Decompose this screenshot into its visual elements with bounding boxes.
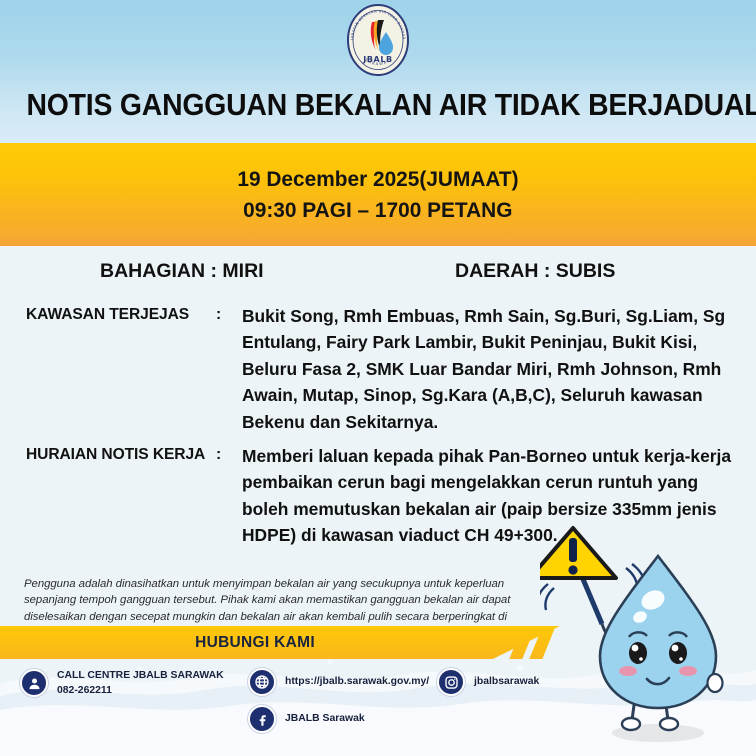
- daerah-label: DAERAH : SUBIS: [455, 260, 615, 283]
- detail-colon: :: [216, 443, 242, 467]
- detail-label: HURAIAN NOTIS KERJA: [26, 443, 216, 467]
- notice-time: 09:30 PAGI – 1700 PETANG: [243, 198, 512, 223]
- bahagian-label: BAHAGIAN : MIRI: [100, 260, 264, 283]
- date-band: 19 December 2025(JUMAAT) 09:30 PAGI – 17…: [0, 143, 756, 246]
- detail-colon: :: [216, 303, 242, 327]
- notice-date: 19 December 2025(JUMAAT): [237, 167, 518, 192]
- poster-body: BAHAGIAN : MIRI DAERAH : SUBIS KAWASAN T…: [0, 246, 756, 756]
- contact-list: CALL CENTRE JBALB SARAWAK 082-262211 htt…: [0, 659, 756, 756]
- contact-facebook[interactable]: JBALB Sarawak: [248, 705, 365, 733]
- facebook-icon: [248, 705, 276, 733]
- contact-line-1: CALL CENTRE JBALB SARAWAK: [57, 670, 224, 681]
- page-title: NOTIS GANGGUAN BEKALAN AIR TIDAK BERJADU…: [26, 88, 729, 123]
- jbalb-logo-svg: JBALB JABATAN BEKALAN AIR LUAR BANDAR SA…: [342, 2, 414, 78]
- detail-value: Bukit Song, Rmh Embuas, Rmh Sain, Sg.Bur…: [242, 303, 732, 435]
- contact-bar-title: HUBUNGI KAMI: [0, 626, 510, 659]
- jbalb-logo-icon: JBALB JABATAN BEKALAN AIR LUAR BANDAR SA…: [342, 2, 414, 78]
- contact-instagram[interactable]: jbalbsarawak: [437, 668, 539, 696]
- contact-line-2: 082-262211: [57, 683, 224, 698]
- detail-row-huraian-notis-kerja: HURAIAN NOTIS KERJA : Memberi laluan kep…: [26, 443, 736, 549]
- globe-icon: [248, 668, 276, 696]
- poster-header: JBALB JABATAN BEKALAN AIR LUAR BANDAR SA…: [0, 0, 756, 143]
- contact-text: jbalbsarawak: [474, 674, 539, 689]
- contact-website[interactable]: https://jbalb.sarawak.gov.my/: [248, 668, 429, 696]
- detail-label: KAWASAN TERJEJAS: [26, 303, 216, 327]
- contact-text: CALL CENTRE JBALB SARAWAK 082-262211: [57, 668, 224, 698]
- detail-row-kawasan-terjejas: KAWASAN TERJEJAS : Bukit Song, Rmh Embua…: [26, 303, 736, 435]
- contact-text: https://jbalb.sarawak.gov.my/: [285, 674, 429, 689]
- contact-text: JBALB Sarawak: [285, 711, 365, 726]
- instagram-icon: [437, 668, 465, 696]
- detail-value: Memberi laluan kepada pihak Pan-Borneo u…: [242, 443, 732, 549]
- contact-bar: HUBUNGI KAMI: [0, 626, 756, 659]
- person-icon: [20, 669, 48, 697]
- contact-call-centre[interactable]: CALL CENTRE JBALB SARAWAK 082-262211: [20, 668, 224, 698]
- notice-poster: JBALB JABATAN BEKALAN AIR LUAR BANDAR SA…: [0, 0, 756, 756]
